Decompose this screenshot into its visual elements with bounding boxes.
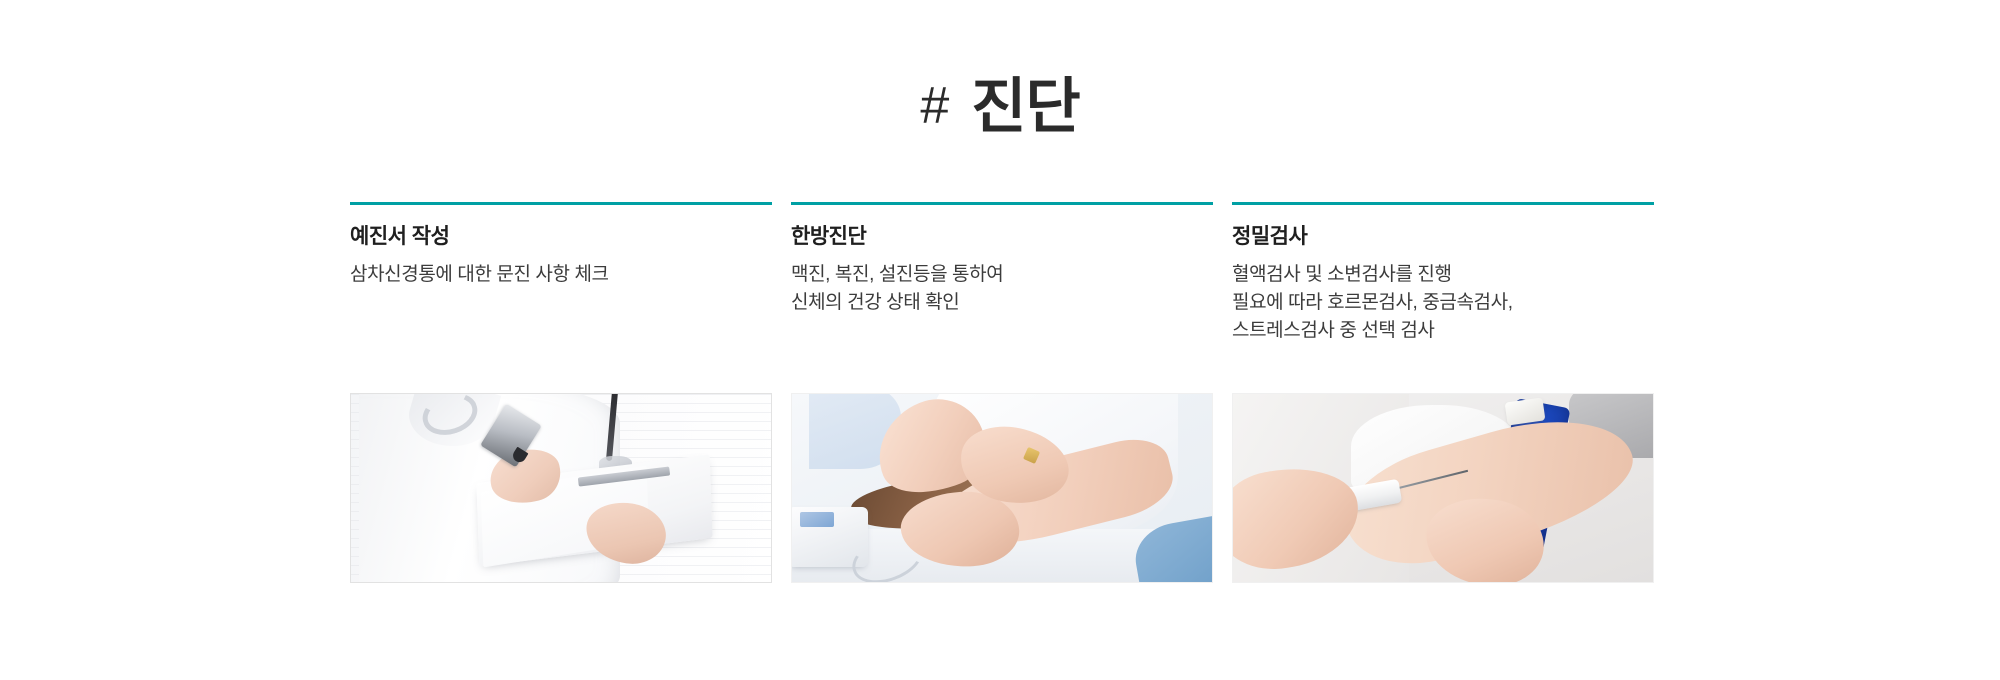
photo-2-art [792, 394, 1212, 582]
step-description: 맥진, 복진, 설진등을 통하여 신체의 건강 상태 확인 [791, 261, 1213, 317]
step-heading: 한방진단 [791, 224, 1213, 249]
diagnosis-step-list: 예진서 작성 삼차신경통에 대한 문진 사항 체크 한방진단 맥진, 복진, 설… [350, 202, 1656, 346]
column-rule [350, 202, 772, 205]
step-heading: 정밀검사 [1232, 224, 1654, 249]
step-description: 혈액검사 및 소변검사를 진행 필요에 따라 호르몬검사, 중금속검사, 스트레… [1232, 261, 1654, 345]
hash-icon: # [920, 77, 949, 135]
diagnosis-section: #진단 예진서 작성 삼차신경통에 대한 문진 사항 체크 한방진단 맥진, 복… [0, 0, 2000, 680]
page-title: #진단 [0, 58, 2000, 145]
diagnosis-step-1: 예진서 작성 삼차신경통에 대한 문진 사항 체크 [350, 202, 772, 346]
diagnosis-step-2: 한방진단 맥진, 복진, 설진등을 통하여 신체의 건강 상태 확인 [791, 202, 1213, 346]
photo-1-art [351, 394, 771, 582]
step-description: 삼차신경통에 대한 문진 사항 체크 [350, 261, 772, 289]
diagnosis-step-3: 정밀검사 혈액검사 및 소변검사를 진행 필요에 따라 호르몬검사, 중금속검사… [1232, 202, 1654, 346]
step-heading: 예진서 작성 [350, 224, 772, 249]
column-rule [791, 202, 1213, 205]
photo-pulse-diagnosis-wrist: 손목 맥진을 하는 사진 [791, 393, 1213, 583]
photo-doctor-writing-clipboard: 의사가 클립보드에 예진서를 작성하는 사진 [350, 393, 772, 583]
column-rule [1232, 202, 1654, 205]
diagnosis-photo-list: 의사가 클립보드에 예진서를 작성하는 사진 손목 맥진을 하는 사진 [350, 393, 1656, 583]
photo-blood-draw-tourniquet: 파란 지혈대를 착용한 팔에서 채혈하는 사진 [1232, 393, 1654, 583]
page-title-text: 진단 [971, 73, 1079, 140]
photo-3-art [1233, 394, 1653, 582]
